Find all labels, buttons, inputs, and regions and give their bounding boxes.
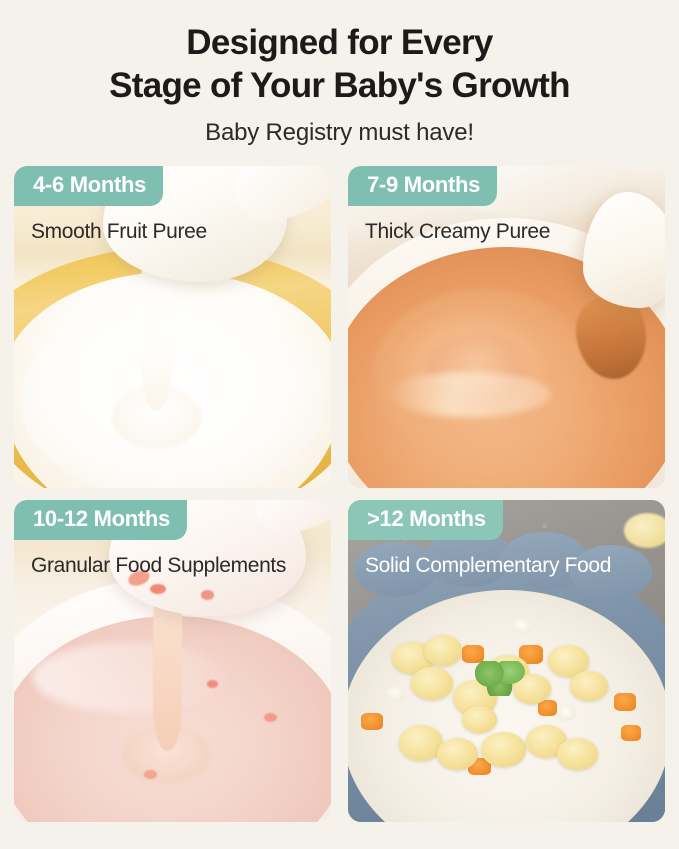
header: Designed for Every Stage of Your Baby's …: [0, 0, 679, 147]
stage-card-grid: 4-6 Months Smooth Fruit Puree 7-9 Months…: [14, 166, 665, 822]
stage-caption: Granular Food Supplements: [31, 554, 286, 578]
infographic-page: Designed for Every Stage of Your Baby's …: [0, 0, 679, 849]
page-subtitle: Baby Registry must have!: [0, 119, 679, 147]
stage-photo-granular-food-supplements: [14, 500, 331, 822]
stage-caption: Smooth Fruit Puree: [31, 220, 207, 244]
age-badge: 4-6 Months: [14, 166, 163, 206]
stage-photo-smooth-fruit-puree: [14, 166, 331, 488]
age-badge: 7-9 Months: [348, 166, 497, 206]
age-badge: >12 Months: [348, 500, 503, 540]
herb-garnish: [475, 661, 526, 696]
stage-card-10-12-months[interactable]: 10-12 Months Granular Food Supplements: [14, 500, 331, 822]
stage-photo-solid-complementary-food: [348, 500, 665, 822]
headline-line-2: Stage of Your Baby's Growth: [0, 65, 679, 108]
stage-caption: Thick Creamy Puree: [365, 220, 550, 244]
stage-card-4-6-months[interactable]: 4-6 Months Smooth Fruit Puree: [14, 166, 331, 488]
stage-card-over-12-months[interactable]: >12 Months Solid Complementary Food: [348, 500, 665, 822]
stage-photo-thick-creamy-puree: [348, 166, 665, 488]
page-title: Designed for Every Stage of Your Baby's …: [0, 22, 679, 107]
stage-caption: Solid Complementary Food: [365, 554, 611, 578]
stage-card-7-9-months[interactable]: 7-9 Months Thick Creamy Puree: [348, 166, 665, 488]
headline-line-1: Designed for Every: [0, 22, 679, 65]
age-badge: 10-12 Months: [14, 500, 187, 540]
